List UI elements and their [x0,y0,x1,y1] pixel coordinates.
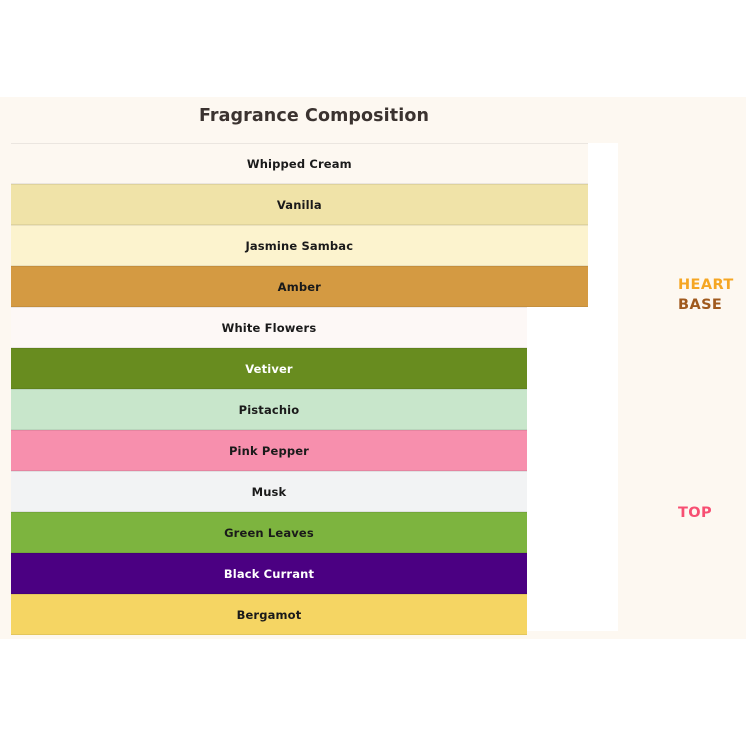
bar-row[interactable]: Green Leaves [11,512,527,553]
bar-label: Vanilla [277,198,322,212]
bar-label: Whipped Cream [247,157,352,171]
page-title: Fragrance Composition [0,106,628,126]
bar-label: Pistachio [239,403,300,417]
bar-label: Jasmine Sambac [245,239,353,253]
bar-label: White Flowers [222,321,317,335]
bar-row[interactable]: Amber [11,266,588,307]
bar-label: Black Currant [224,567,314,581]
group-label-base: BASE [678,297,722,313]
group-label-top: TOP [678,505,712,521]
bar-label: Vetiver [245,362,293,376]
bar-row[interactable]: Musk [11,471,527,512]
bar-label: Amber [278,280,321,294]
bar-row[interactable]: Jasmine Sambac [11,225,588,266]
bar-row[interactable]: White Flowers [11,307,527,348]
bar-label: Pink Pepper [229,444,309,458]
bar-label: Musk [252,485,287,499]
bar-row[interactable]: Whipped Cream [11,143,588,184]
bar-row[interactable]: Black Currant [11,553,527,594]
chart-figure: Fragrance Composition Whipped CreamVanil… [0,97,746,639]
bar-row[interactable]: Vanilla [11,184,588,225]
bar-row[interactable]: Vetiver [11,348,527,389]
bar-row[interactable]: Pistachio [11,389,527,430]
bar-row[interactable]: Bergamot [11,594,527,635]
bar-label: Bergamot [237,608,302,622]
bar-row[interactable]: Pink Pepper [11,430,527,471]
group-label-heart: HEART [678,277,734,293]
bar-label: Green Leaves [224,526,314,540]
